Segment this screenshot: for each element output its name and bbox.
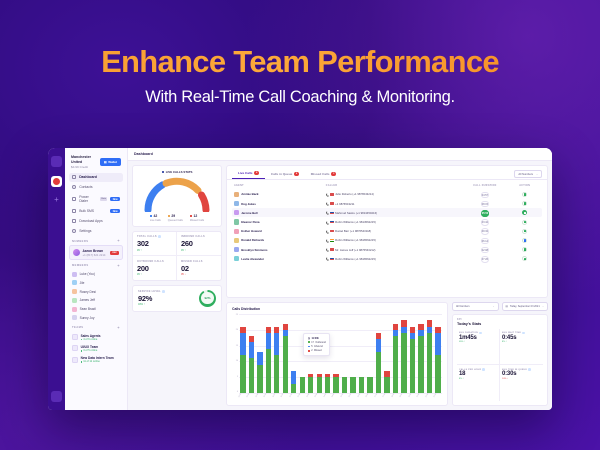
legend-item-live-calls: 42 Live Calls: [150, 214, 161, 222]
call-duration: 05:50: [481, 210, 489, 217]
column-header-agent[interactable]: AGENT: [234, 184, 326, 187]
avatar: [234, 201, 239, 206]
legend-label: Missed Calls: [190, 219, 204, 222]
list-item[interactable]: Sean Brazil: [69, 305, 123, 314]
bar-column[interactable]: [349, 314, 357, 393]
bar-segment-outbound: [418, 336, 423, 393]
stat-delta: 10% ↓: [502, 378, 541, 380]
stat-label: AVG WAIT TIME: [502, 332, 521, 334]
caller-name: Daniel Barr (+1 9876543118): [335, 229, 371, 233]
legend-item-queued-calls: 29 Queued Calls: [168, 214, 183, 222]
tooltip-series: Missed: [314, 349, 322, 352]
sidebar-item-contacts[interactable]: Contacts: [69, 183, 123, 192]
bar-column[interactable]: [264, 314, 272, 393]
icon-rail: +: [48, 148, 65, 410]
avatar: [72, 315, 77, 320]
legend-value: 42: [153, 214, 157, 218]
bar-column[interactable]: [239, 314, 247, 393]
sidebar-item-label: Dashboard: [79, 175, 97, 179]
user-icon: [72, 185, 76, 189]
bar-column[interactable]: [273, 314, 281, 393]
tab-bar: Live Calls 8 Calls in Queue 6 Missed Cal…: [227, 166, 547, 180]
call-duration: 02:08: [481, 247, 489, 254]
x-tick-label: 20:30: [433, 392, 444, 403]
legend-value: 29: [171, 214, 175, 218]
info-icon[interactable]: [522, 332, 525, 335]
call-duration: 09:32: [481, 228, 489, 235]
y-tick-label: 5: [232, 376, 238, 378]
info-icon[interactable]: [162, 290, 165, 293]
bar-segment-inbound: [376, 339, 381, 352]
avatar: [72, 272, 77, 277]
tooltip-series: Outbound: [315, 341, 326, 344]
bar-segment-inbound: [435, 333, 440, 355]
table-row[interactable]: Eleanor Pena 📞Robin Williams (+1 9814562…: [232, 217, 542, 226]
list-item[interactable]: Jile: [69, 278, 123, 287]
team-online-label: 4 of 6 online: [83, 338, 97, 341]
stat-value: 0:45s: [502, 335, 541, 341]
avatar: [72, 289, 77, 294]
gauge-legend: 42 Live Calls 29 Queued Calls 12 Missed …: [137, 214, 217, 222]
wallet-label: Wallet: [108, 160, 117, 164]
member-name: Rosey Desi: [80, 290, 96, 294]
bar-column[interactable]: [332, 314, 340, 393]
date-range-select[interactable]: ▤ Today, September 03 2021 ⌄: [502, 302, 549, 311]
bottom-row: Calls Distribution 2520151050 09:0009:30…: [226, 302, 548, 406]
bar-segment-outbound: [317, 377, 322, 393]
gauge-chart: [137, 176, 217, 212]
agent-name: Ammie Back: [241, 192, 258, 196]
stat-label: CALLS PER HOUR: [459, 369, 481, 371]
org-header[interactable]: Manchester United $4.99 Credit ▤ Wallet: [69, 152, 123, 173]
members-section-header: MEMBERS +: [69, 260, 123, 270]
bar-segment-outbound: [410, 339, 415, 393]
bar-segment-outbound: [393, 336, 398, 393]
app-window: + Manchester United $4.99 Credit ▤ Walle…: [48, 148, 552, 410]
info-icon[interactable]: [528, 368, 531, 371]
list-item[interactable]: New Data Intern Team 11 of 11 online: [69, 354, 123, 365]
stat-card-missed-calls: MISSED CALLS 02 05 ↓: [177, 256, 221, 280]
bar-column[interactable]: [375, 314, 383, 393]
members-section-title: MEMBERS: [72, 264, 89, 267]
caller-name: Robin Williams (+1 9816562215): [335, 257, 376, 261]
team-online-label: 11 of 11 online: [83, 360, 100, 363]
avatar: [234, 247, 239, 252]
today-stats-grid: AVG DURATION 1m45s 05% ↑ AVG WAIT TIME 0…: [457, 329, 543, 402]
y-tick-label: 10: [232, 360, 238, 362]
sidebar-nav: Dashboard Contacts Power Dialer Beta New…: [69, 173, 123, 236]
avatar: [72, 280, 77, 285]
numbers-filter-dropdown[interactable]: All Numbers ⌄: [514, 170, 542, 178]
member-name: James Jeff: [80, 298, 95, 302]
chart-tooltip: ◷ 11:00h 17 Outbound 5: [303, 333, 330, 356]
column-header-duration[interactable]: CALL DURATION: [460, 184, 509, 187]
app-logo-icon[interactable]: [51, 176, 62, 187]
avatar: [234, 219, 239, 224]
phone-icon: 📞: [326, 248, 329, 251]
phone-icon: 📞: [326, 193, 329, 196]
tooltip-value: 2: [311, 349, 312, 352]
list-item[interactable]: Rosey Desi: [69, 287, 123, 296]
bar-column[interactable]: [366, 314, 374, 393]
tooltip-value: 17: [311, 341, 314, 344]
caller-name: Mr. James Jeff (+1 9876543212): [335, 248, 375, 252]
stat-value: 18: [459, 371, 497, 377]
listen-in-button[interactable]: [522, 229, 527, 234]
message-icon: [72, 209, 76, 213]
stat-delta: 03% ↑: [138, 303, 165, 306]
chevron-down-icon: ⌄: [492, 305, 494, 308]
team-icon: [72, 357, 78, 363]
stat-label: AVG DURATION: [459, 332, 478, 334]
bar-segment-outbound: [249, 358, 254, 393]
tab-label: Calls in Queue: [271, 172, 293, 176]
flag-icon: [330, 221, 333, 223]
tab-badge: 6: [294, 172, 298, 176]
gauge-title: LIVE CALLS STATS: [137, 170, 217, 174]
sidebar-item-label: Download Apps: [79, 219, 103, 223]
avatar: [72, 298, 77, 303]
y-tick-label: 25: [232, 314, 238, 316]
stat-card-avg-duration: AVG DURATION 1m45s 05% ↑: [457, 329, 500, 366]
sidebar-item-power-dialer[interactable]: Power Dialer Beta New: [69, 192, 123, 205]
sidebar-item-label: Contacts: [79, 185, 92, 189]
caller-name: Robin Williams (+1 9816562215): [335, 238, 376, 242]
stat-label: SERVICE LEVEL: [138, 290, 161, 293]
agent-name: Eleanor Pena: [241, 220, 259, 224]
listen-in-button[interactable]: [522, 201, 527, 206]
gauge-title-label: LIVE CALLS STATS: [166, 170, 193, 174]
teams-section-header: TEAMS +: [69, 322, 123, 332]
avatar: [73, 249, 80, 256]
bar-segment-outbound: [257, 365, 262, 393]
sidebar-item-download-apps[interactable]: Download Apps: [69, 216, 123, 225]
active-number-card[interactable]: Aaron Brown +1 (817) 621 2214 REC: [69, 245, 123, 260]
sidebar-item-dashboard[interactable]: Dashboard: [69, 173, 123, 182]
stat-delta: 05% ↑: [459, 341, 497, 343]
bar-segment-inbound: [266, 333, 271, 349]
progress-ring-label: 92%: [201, 292, 214, 305]
stat-value: 92%: [138, 294, 165, 303]
numbers-select-label: All Numbers: [456, 305, 470, 308]
sidebar-item-label: Settings: [79, 229, 91, 233]
listen-in-button[interactable]: [522, 256, 527, 261]
date-range-label: Today, September 03 2021: [510, 305, 540, 308]
listen-in-button[interactable]: [522, 238, 527, 243]
stat-delta: 05 ↓: [181, 273, 217, 276]
stat-card-outbound-calls: OUTBOUND CALLS 200 45 ↑: [133, 256, 177, 280]
bar-column[interactable]: [341, 314, 349, 393]
caller-name: Robin Williams (+1 9814562215): [335, 220, 376, 224]
y-tick-label: 0: [232, 391, 238, 393]
today-controls: All Numbers ⌄ ▤ Today, September 03 2021…: [452, 302, 548, 311]
org-balance: $4.99 Credit: [71, 165, 100, 169]
add-member-icon[interactable]: +: [117, 264, 120, 268]
flag-icon: [330, 212, 333, 214]
flag-icon: [330, 230, 333, 232]
bar-column[interactable]: [417, 314, 425, 393]
sidebar-item-bulk-sms[interactable]: Bulk SMS New: [69, 206, 123, 216]
bar-segment-outbound: [300, 377, 305, 393]
stat-card-avg-time-in-queue: AVG TIME IN QUEUE 0:30s 10% ↓: [500, 365, 543, 401]
stat-card-avg-wait-time: AVG WAIT TIME 0:45s 8% ↑: [500, 329, 543, 366]
filter-label: All Numbers: [518, 173, 533, 176]
team-online-status: 3 of 5 online: [81, 349, 98, 352]
column-header-action: ACTION: [509, 184, 540, 187]
calendar-icon: ▤: [506, 305, 508, 308]
bar-segment-outbound: [376, 352, 381, 393]
team-online-status: 11 of 11 online: [81, 360, 114, 363]
bar-column[interactable]: [281, 314, 289, 393]
legend-label: Queued Calls: [168, 219, 183, 222]
x-axis: 09:0009:3010:0010:3011:0011:3012:0012:30…: [239, 393, 442, 401]
avatar: [234, 210, 239, 215]
breadcrumb: Dashboard: [128, 148, 552, 161]
kpi-grid: TOTAL CALLS 302 45 ↑ INBOUND CALLS 260 4…: [132, 231, 222, 281]
avatar: [234, 238, 239, 243]
legend-label: Live Calls: [150, 219, 161, 222]
bar-column[interactable]: [383, 314, 391, 393]
team-icon: [72, 345, 78, 351]
phone-icon: 📞: [326, 230, 329, 233]
tab-live-calls[interactable]: Live Calls 8: [232, 169, 265, 179]
today-stats-column: All Numbers ⌄ ▤ Today, September 03 2021…: [452, 302, 548, 406]
bar-column[interactable]: [256, 314, 264, 393]
call-duration: 04:57: [481, 192, 489, 199]
table-row[interactable]: Ammie Back 📞Julio Roberto (+1 9876543214…: [232, 190, 542, 199]
info-icon[interactable]: [479, 332, 482, 335]
stat-label: TOTAL CALLS: [137, 235, 157, 238]
listen-in-button[interactable]: [522, 247, 527, 252]
bar-segment-outbound: [333, 377, 338, 393]
stat-label: AVG TIME IN QUEUE: [502, 369, 527, 371]
stat-value: 1m45s: [459, 335, 497, 341]
live-calls-stats-card: LIVE CALLS STATS 42 Live Calls: [132, 165, 222, 227]
wallet-button[interactable]: ▤ Wallet: [100, 158, 121, 166]
table-row[interactable]: Ronald Richards 📞Robin Williams (+1 9816…: [232, 236, 542, 245]
table-row[interactable]: Esther Howard 📞Daniel Barr (+1 987654311…: [232, 227, 542, 236]
phone-icon: 📞: [326, 239, 329, 242]
agent-name: Ronald Richards: [241, 238, 264, 242]
listen-in-button[interactable]: [522, 220, 527, 225]
call-duration: 07:26: [481, 256, 489, 263]
numbers-select[interactable]: All Numbers ⌄: [452, 302, 499, 311]
sidebar-item-label: Power Dialer: [79, 195, 97, 203]
left-column: LIVE CALLS STATS 42 Live Calls: [132, 165, 222, 406]
flag-icon: [330, 258, 333, 260]
numbers-section-header: NUMBERS +: [69, 236, 123, 246]
stat-delta: 45 ↑: [137, 273, 172, 276]
progress-ring: 92%: [199, 290, 216, 307]
stat-card-total-calls: TOTAL CALLS 302 45 ↑: [133, 232, 177, 257]
chevron-down-icon: ⌄: [536, 173, 538, 176]
bar-segment-inbound: [291, 371, 296, 384]
y-axis: 2520151050: [232, 314, 238, 393]
caller-name: +1 9876543211: [335, 202, 354, 206]
phone-icon: 📞: [326, 221, 329, 224]
stat-value: 0:30s: [502, 371, 541, 377]
list-item[interactable]: Sunny Joy: [69, 314, 123, 323]
bar-column[interactable]: [434, 314, 442, 393]
bar-column[interactable]: [426, 314, 434, 393]
main-content: Dashboard LIVE CALLS STATS: [128, 148, 552, 410]
chart-plot-area: 2520151050 09:0009:3010:0010:3011:0011:3…: [232, 314, 442, 401]
phone-icon: 📞: [326, 202, 329, 205]
calls-table: AGENT CALLER CALL DURATION ACTION Ammie …: [227, 180, 547, 297]
bar-segment-outbound: [240, 355, 245, 393]
bar-segment-outbound: [427, 333, 432, 393]
rail-add-icon[interactable]: +: [54, 196, 59, 204]
call-duration: 08:15: [481, 201, 489, 208]
stat-label: OUTBOUND CALLS: [137, 260, 164, 263]
avatar: [234, 256, 239, 261]
page-subtitle: With Real-Time Call Coaching & Monitorin…: [0, 88, 600, 107]
tooltip-value: 5: [311, 345, 312, 348]
calls-panel: Live Calls 8 Calls in Queue 6 Missed Cal…: [226, 165, 548, 298]
tooltip-series: Inbound: [314, 345, 323, 348]
member-name: Sunny Joy: [80, 316, 95, 320]
stat-value: 200: [137, 264, 172, 273]
agent-name: Dog Jukes: [241, 202, 256, 206]
flag-icon: [330, 202, 333, 204]
org-name: Manchester United: [71, 155, 100, 165]
today-stats-title: Today's Stats: [457, 322, 543, 326]
numbers-section-title: NUMBERS: [72, 240, 88, 243]
bar-segment-inbound: [274, 333, 279, 355]
legend-swatch: [162, 171, 164, 173]
phone-icon: 📞: [326, 211, 329, 214]
flag-icon: [330, 239, 333, 241]
agent-name: Leslie Alexander: [241, 257, 264, 261]
bar-segment-outbound: [401, 333, 406, 393]
bar-column[interactable]: [400, 314, 408, 393]
tab-label: Live Calls: [238, 171, 252, 175]
list-item[interactable]: Sales Agents 4 of 6 online: [69, 332, 123, 343]
call-duration: 03:42: [481, 219, 489, 226]
caller-name: Julio Roberto (+1 9876543214): [335, 192, 374, 196]
avatar: [234, 192, 239, 197]
bar-column[interactable]: [358, 314, 366, 393]
tab-calls-in-queue[interactable]: Calls in Queue 6: [265, 170, 305, 179]
stat-card-inbound-calls: INBOUND CALLS 260 45 ↑: [177, 232, 221, 257]
tooltip-label: 11:00h: [311, 337, 318, 340]
today-stats-card: KPI Today's Stats AVG DURATION 1m45s 05%…: [452, 314, 548, 406]
bar-segment-outbound: [350, 377, 355, 393]
menu-toggle-icon[interactable]: [51, 156, 62, 167]
chart-title: Calls Distribution: [232, 307, 442, 311]
tooltip-title: ◷ 11:00h: [308, 337, 326, 340]
table-row[interactable]: Leslie Alexander 📞Robin Williams (+1 981…: [232, 254, 542, 263]
bar-segment-inbound: [249, 342, 254, 358]
stat-label: INBOUND CALLS: [181, 235, 205, 238]
tooltip-row: 17 Outbound: [308, 341, 326, 344]
table-row[interactable]: Dog Jukes 📞+1 9876543211 08:15: [232, 199, 542, 208]
tab-missed-calls[interactable]: Missed Calls 3: [305, 170, 342, 179]
bar-segment-inbound: [240, 333, 245, 355]
bar-segment-outbound: [435, 355, 440, 393]
tab-label: Missed Calls: [311, 172, 330, 176]
list-item[interactable]: James Jeff: [69, 296, 123, 305]
stat-card-calls-per-hour: CALLS PER HOUR 18 8% ↑: [457, 365, 500, 401]
flag-icon: [330, 193, 333, 195]
tab-badge: 3: [331, 172, 335, 176]
right-column: Live Calls 8 Calls in Queue 6 Missed Cal…: [226, 165, 548, 406]
stat-delta: 8% ↑: [459, 378, 497, 380]
bar-column[interactable]: [392, 314, 400, 393]
sidebar: Manchester United $4.99 Credit ▤ Wallet …: [65, 148, 128, 410]
info-icon[interactable]: [158, 235, 161, 238]
column-header-caller[interactable]: CALLER: [326, 184, 461, 187]
add-number-icon[interactable]: +: [117, 239, 120, 243]
agent-name: Jerome Bell: [241, 211, 257, 215]
table-header: AGENT CALLER CALL DURATION ACTION: [232, 182, 542, 190]
table-row[interactable]: Jerome Bell 📞Mahmud Sastre (+1 981345021…: [232, 208, 542, 217]
phone-icon: 📞: [326, 257, 329, 260]
bar-segment-outbound: [283, 336, 288, 393]
legend-value: 12: [193, 214, 197, 218]
team-online-label: 3 of 5 online: [83, 349, 97, 352]
teams-section-title: TEAMS: [72, 326, 83, 329]
bar-column[interactable]: [290, 314, 298, 393]
page-title: Enhance Team Performance: [0, 46, 600, 79]
clock-icon: ◷: [308, 337, 310, 340]
y-tick-label: 15: [232, 345, 238, 347]
stat-delta: 45 ↑: [181, 249, 217, 252]
member-name: Jile: [80, 281, 85, 285]
tooltip-row: 2 Missed: [308, 349, 326, 352]
active-number-value: +1 (817) 621 2214: [83, 253, 106, 257]
sidebar-item-settings[interactable]: Settings: [69, 226, 123, 235]
list-item[interactable]: Luke (You): [69, 270, 123, 279]
tab-badge: 8: [254, 171, 258, 175]
bar-segment-outbound: [274, 355, 279, 393]
avatar: [234, 229, 239, 234]
tooltip-row: 5 Inbound: [308, 345, 326, 348]
breadcrumb-label: Dashboard: [134, 152, 153, 156]
member-name: Luke (You): [80, 272, 95, 276]
bar-column[interactable]: [247, 314, 255, 393]
chevron-down-icon: ⌄: [542, 305, 544, 308]
team-online-status: 4 of 6 online: [81, 338, 101, 341]
stat-value: 302: [137, 239, 172, 248]
hero-section: Enhance Team Performance With Real-Time …: [0, 46, 600, 107]
list-item[interactable]: UI/UX Team 3 of 5 online: [69, 343, 123, 354]
chart-bars: [239, 314, 442, 393]
call-duration: 06:14: [481, 238, 489, 245]
agent-name: Esther Howard: [241, 229, 261, 233]
info-icon[interactable]: [482, 368, 485, 371]
help-icon[interactable]: [51, 391, 62, 402]
table-row[interactable]: Brooklyn Simmons 📞Mr. James Jeff (+1 987…: [232, 245, 542, 254]
status-badge: REC: [110, 251, 119, 255]
listen-in-button[interactable]: [522, 192, 527, 197]
caller-name: Mahmud Sastre (+1 9813450216): [335, 211, 377, 215]
sidebar-item-label: Bulk SMS: [79, 209, 94, 213]
stat-delta: 45 ↑: [137, 249, 172, 252]
stat-label: MISSED CALLS: [181, 260, 203, 263]
add-team-icon[interactable]: +: [117, 326, 120, 330]
new-pill: New: [110, 209, 120, 214]
bar-segment-outbound: [266, 349, 271, 393]
y-tick-label: 20: [232, 329, 238, 331]
bar-segment-inbound: [257, 352, 262, 365]
beta-tag: Beta: [100, 197, 107, 200]
listen-in-button[interactable]: [522, 210, 527, 215]
stat-value: 260: [181, 239, 217, 248]
new-pill: New: [110, 197, 120, 202]
legend-item-missed-calls: 12 Missed Calls: [190, 214, 204, 222]
bar-column[interactable]: [409, 314, 417, 393]
